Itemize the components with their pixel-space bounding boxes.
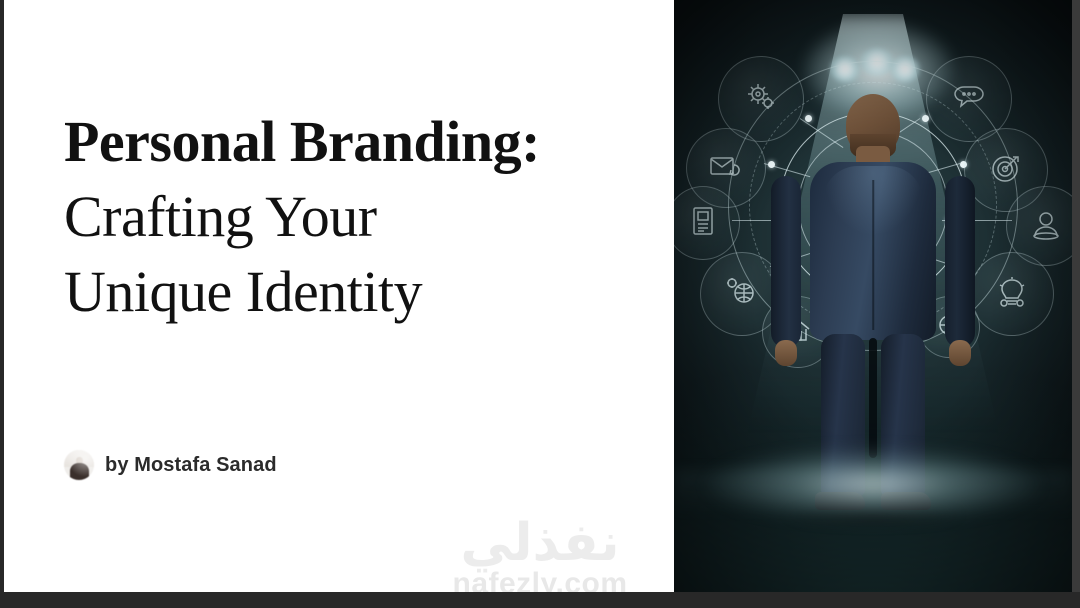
image-vignette — [674, 0, 1072, 592]
author-byline: by Mostafa Sanad — [64, 450, 277, 480]
author-name: by Mostafa Sanad — [105, 454, 277, 477]
frame-bottom-bar — [0, 592, 1080, 608]
title-line-3: Unique Identity — [64, 254, 664, 329]
frame-right-edge — [1072, 0, 1080, 608]
title-line-1: Personal Branding: — [64, 104, 664, 179]
title-line-2: Crafting Your — [64, 179, 664, 254]
left-content-panel: Personal Branding: Crafting Your Unique … — [4, 0, 674, 592]
hero-image-panel — [674, 0, 1072, 592]
author-avatar — [64, 450, 94, 480]
avatar-highlight — [64, 450, 94, 480]
frame-left-edge — [0, 0, 4, 608]
page-title: Personal Branding: Crafting Your Unique … — [64, 104, 664, 329]
presentation-slide: Personal Branding: Crafting Your Unique … — [0, 0, 1080, 608]
